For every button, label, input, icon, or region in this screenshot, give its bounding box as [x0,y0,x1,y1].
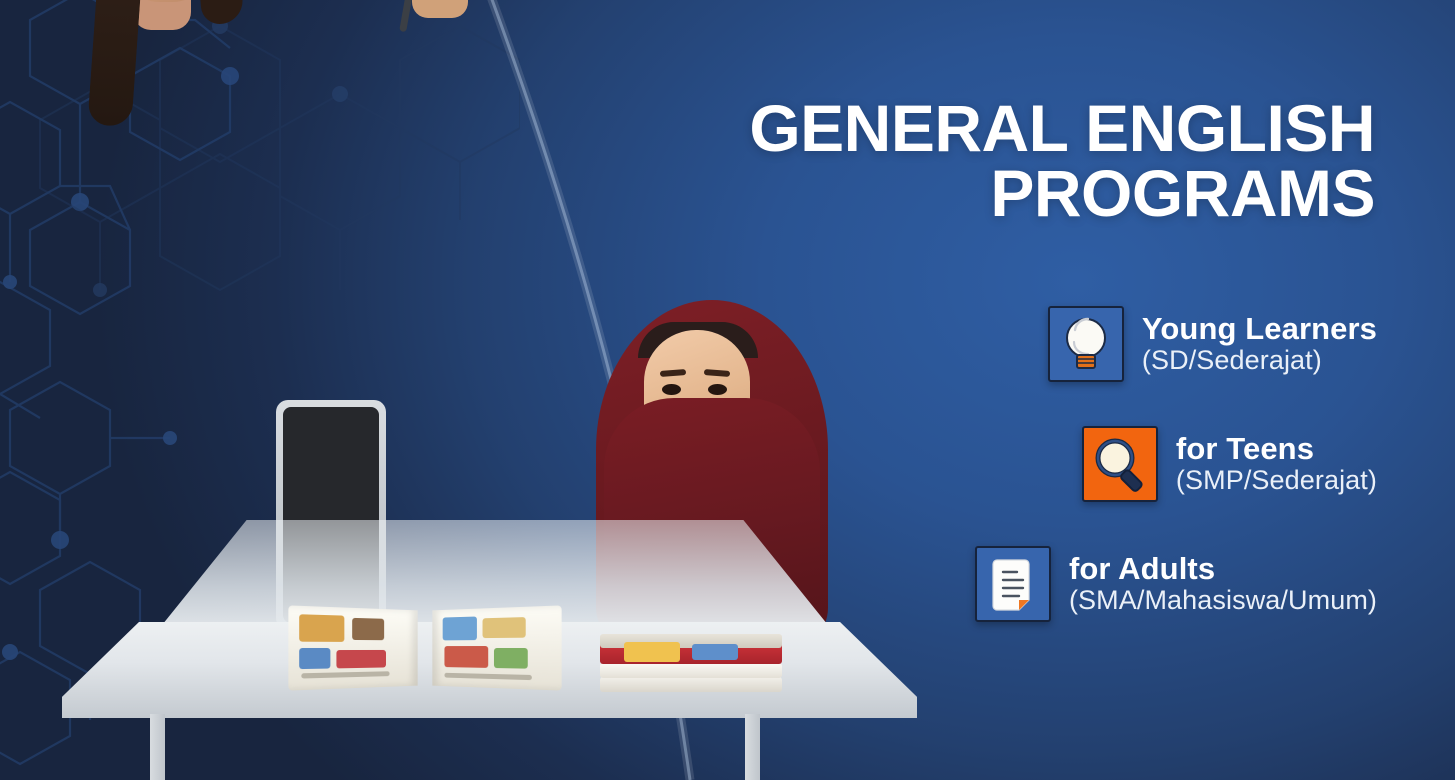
program-title: for Adults [1069,553,1377,586]
program-subtitle: (SMP/Sederajat) [1176,465,1377,495]
lightbulb-badge [1048,306,1124,382]
headline-line-2: PROGRAMS [575,161,1375,226]
program-list: Young Learners (SD/Sederajat) for Teens … [617,306,1377,622]
general-english-programs-banner: GENERAL ENGLISH PROGRAMS Young Learners … [0,0,1455,780]
magnifier-icon [1084,428,1156,500]
program-title: Young Learners [1142,313,1377,346]
lightbulb-icon [1050,308,1122,380]
program-subtitle: (SD/Sederajat) [1142,345,1377,375]
document-icon [977,548,1049,620]
open-textbook [290,602,560,688]
headline-line-1: GENERAL ENGLISH [749,91,1375,165]
program-title: for Teens [1176,433,1377,466]
table-leg-right [745,714,760,780]
page-title: GENERAL ENGLISH PROGRAMS [575,96,1375,225]
program-item-young-learners[interactable]: Young Learners (SD/Sederajat) [617,306,1377,382]
program-item-for-teens[interactable]: for Teens (SMP/Sederajat) [617,426,1377,502]
document-badge [975,546,1051,622]
magnifier-badge [1082,426,1158,502]
book-stack [600,636,782,692]
table-leg-left [150,714,165,780]
program-item-for-adults[interactable]: for Adults (SMA/Mahasiswa/Umum) [617,546,1377,622]
program-subtitle: (SMA/Mahasiswa/Umum) [1069,585,1377,615]
